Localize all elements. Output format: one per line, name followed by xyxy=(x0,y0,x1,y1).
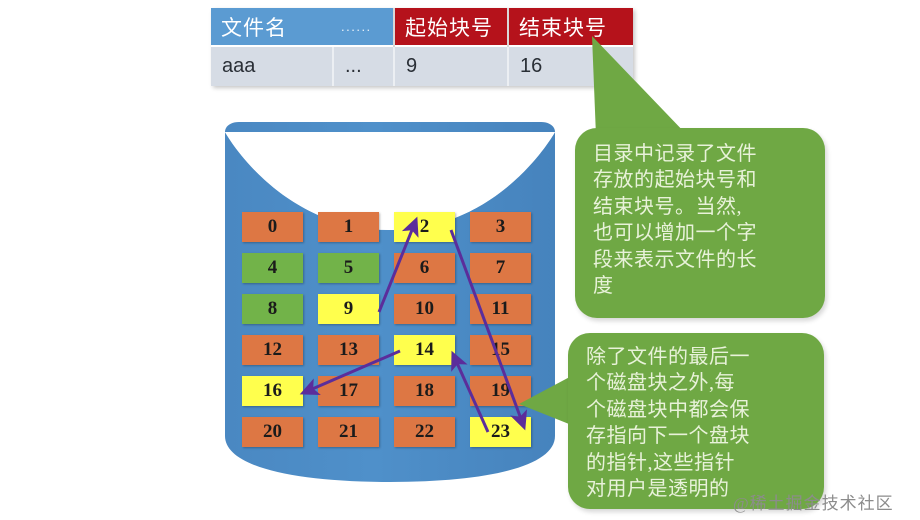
disk-block-7[interactable]: 7 xyxy=(470,253,531,283)
disk-block-21[interactable]: 21 xyxy=(318,417,379,447)
disk-block-17[interactable]: 17 xyxy=(318,376,379,406)
fcb-directory-table: 文件名 ...... 起始块号 结束块号 aaa ... 9 16 xyxy=(211,8,633,86)
disk-block-1[interactable]: 1 xyxy=(318,212,379,242)
disk-block-22[interactable]: 22 xyxy=(394,417,455,447)
disk-block-12[interactable]: 12 xyxy=(242,335,303,365)
disk-block-3[interactable]: 3 xyxy=(470,212,531,242)
disk-block-14[interactable]: 14 xyxy=(394,335,455,365)
disk-block-8[interactable]: 8 xyxy=(242,294,303,324)
callout-next-block-pointer-note: 除了文件的最后一 个磁盘块之外,每 个磁盘块中都会保 存指向下一个盘块 的指针,… xyxy=(568,333,824,509)
disk-block-6[interactable]: 6 xyxy=(394,253,455,283)
disk-block-15[interactable]: 15 xyxy=(470,335,531,365)
tail-triangle xyxy=(592,36,688,136)
disk-block-10[interactable]: 10 xyxy=(394,294,455,324)
callout-2-text: 除了文件的最后一 个磁盘块之外,每 个磁盘块中都会保 存指向下一个盘块 的指针,… xyxy=(586,344,810,502)
table-header-row: 文件名 ...... 起始块号 结束块号 xyxy=(211,8,633,46)
disk-block-20[interactable]: 20 xyxy=(242,417,303,447)
disk-block-11[interactable]: 11 xyxy=(470,294,531,324)
disk-block-18[interactable]: 18 xyxy=(394,376,455,406)
cell-ellipsis: ... xyxy=(333,46,394,86)
disk-block-13[interactable]: 13 xyxy=(318,335,379,365)
callout-1-tail xyxy=(592,36,688,138)
cell-file-name: aaa xyxy=(211,46,333,86)
table-row: aaa ... 9 16 xyxy=(211,46,633,86)
disk-block-9[interactable]: 9 xyxy=(318,294,379,324)
disk-block-4[interactable]: 4 xyxy=(242,253,303,283)
disk-block-5[interactable]: 5 xyxy=(318,253,379,283)
callout-start-end-block-note: 目录中记录了文件 存放的起始块号和 结束块号。当然, 也可以增加一个字 段来表示… xyxy=(575,128,825,318)
disk-block-2[interactable]: 2 xyxy=(394,212,455,242)
cell-start-block: 9 xyxy=(394,46,508,86)
column-header-file-name: 文件名 xyxy=(211,8,333,46)
diagram-canvas: 文件名 ...... 起始块号 结束块号 aaa ... 9 16 xyxy=(0,0,920,520)
callout-1-text: 目录中记录了文件 存放的起始块号和 结束块号。当然, 也可以增加一个字 段来表示… xyxy=(593,141,809,299)
disk-block-grid: 0 1 2 3 4 5 6 7 8 9 10 11 12 13 14 15 16… xyxy=(242,212,540,454)
watermark: @稀土掘金技术社区 xyxy=(733,489,894,514)
disk-block-16[interactable]: 16 xyxy=(242,376,303,406)
disk-block-0[interactable]: 0 xyxy=(242,212,303,242)
column-header-ellipsis: ...... xyxy=(333,8,394,46)
column-header-start-block: 起始块号 xyxy=(394,8,508,46)
